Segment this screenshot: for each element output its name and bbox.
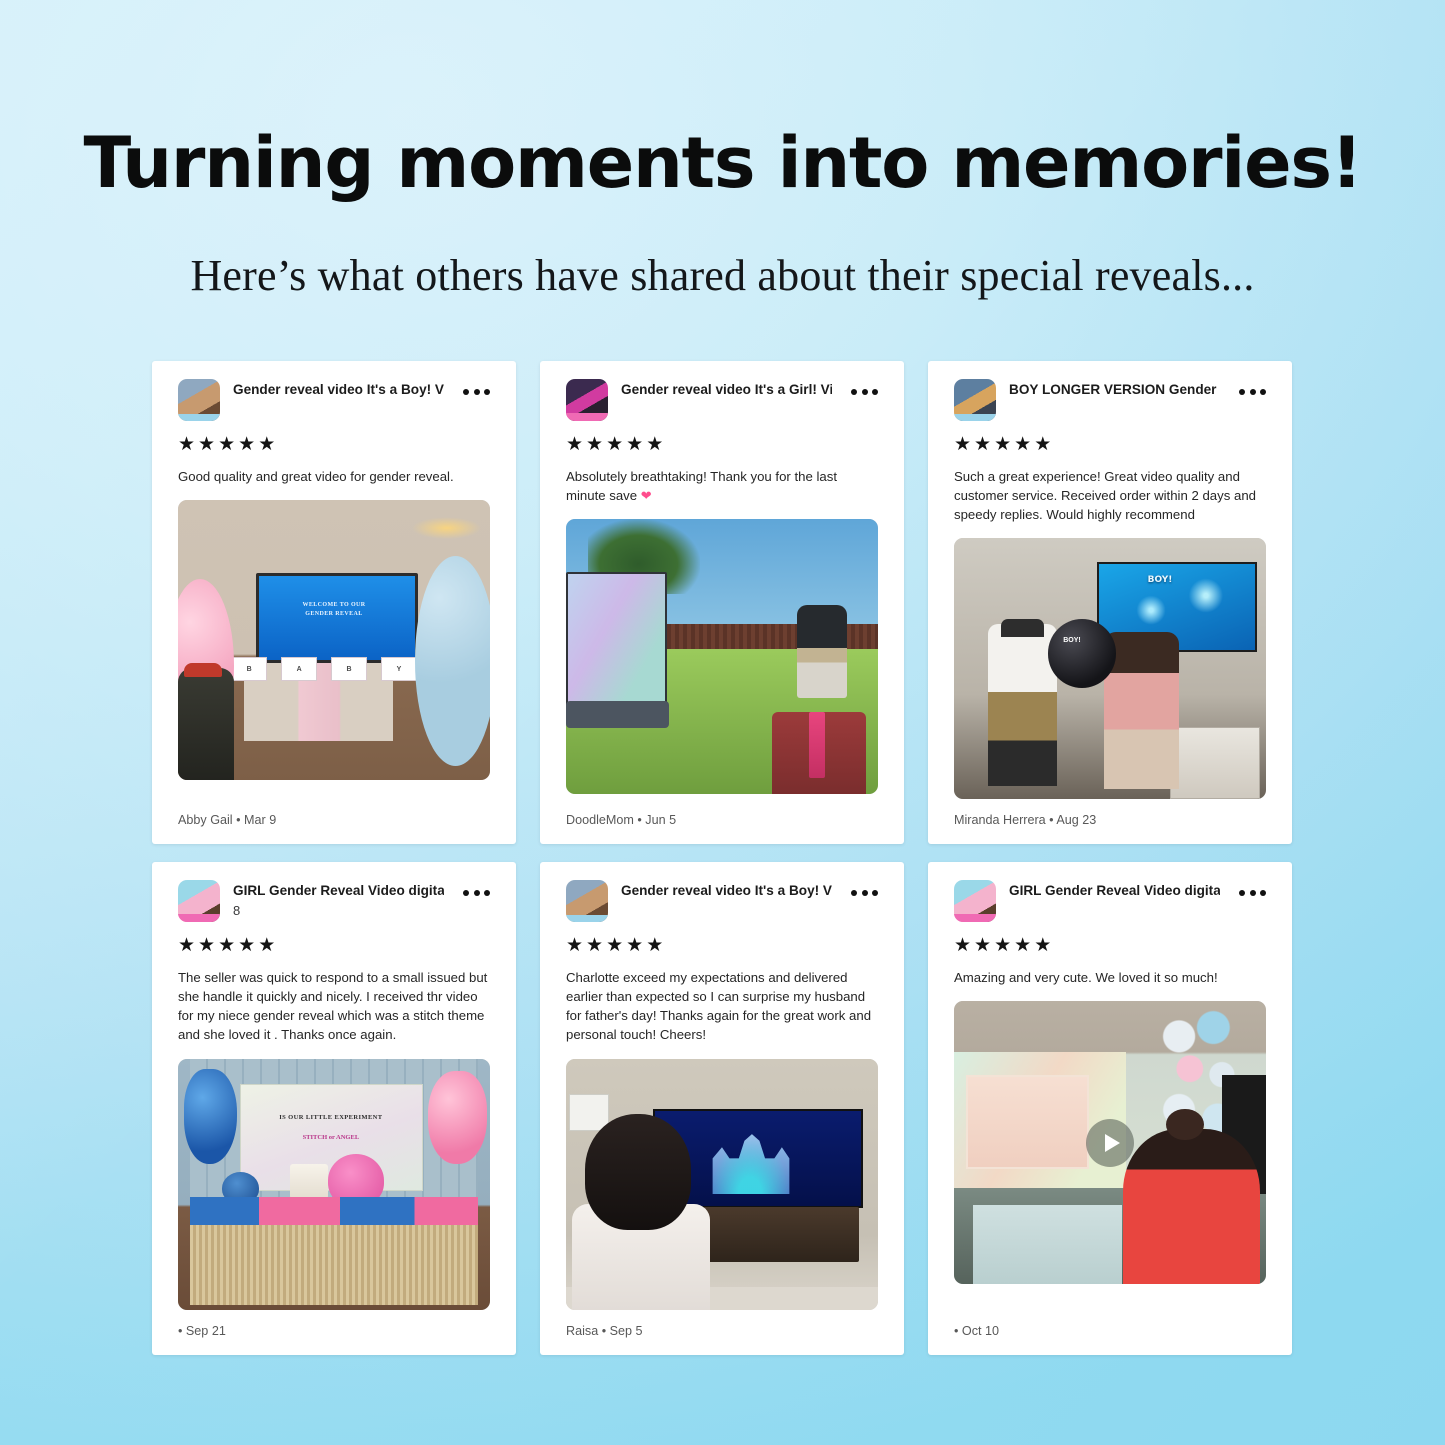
thumbnail-strip xyxy=(566,413,608,421)
review-text-body: Absolutely breathtaking! Thank you for t… xyxy=(566,469,837,503)
review-card[interactable]: BOY LONGER VERSION Gender ... ★ ★ ★ ★ ★ … xyxy=(928,361,1292,844)
tv-caption: BOY! xyxy=(1148,575,1173,585)
star-icon: ★ xyxy=(178,936,196,955)
review-text: The seller was quick to respond to a sma… xyxy=(178,968,490,1045)
review-card-header: Gender reveal video It's a Boy! Vide... xyxy=(178,379,490,421)
thumbnail-strip xyxy=(178,414,220,421)
star-icon: ★ xyxy=(1034,936,1052,955)
thumbnail-strip xyxy=(566,915,608,922)
photo-scene: WELCOME TO OUR GENDER REVEAL B A B Y xyxy=(178,500,490,780)
review-text: Charlotte exceed my expectations and del… xyxy=(566,968,878,1045)
star-rating: ★ ★ ★ ★ ★ xyxy=(566,936,878,955)
review-card[interactable]: Gender reveal video It's a Boy! Vide... … xyxy=(540,862,904,1355)
review-card-header: Gender reveal video It's a Boy! Vide... xyxy=(566,880,878,922)
heart-icon: ❤ xyxy=(641,488,652,503)
review-card-header: Gender reveal video It's a Girl! Vide... xyxy=(566,379,878,421)
review-photo[interactable]: IS OUR LITTLE EXPERIMENT STITCH or ANGEL xyxy=(178,1059,490,1310)
neon-sign xyxy=(412,517,481,539)
media-console xyxy=(703,1207,859,1262)
star-icon: ★ xyxy=(606,435,624,454)
star-icon: ★ xyxy=(566,936,584,955)
hair-bun xyxy=(1166,1109,1203,1140)
tv-caption: WELCOME TO OUR GENDER REVEAL xyxy=(272,601,397,619)
reviews-grid: Gender reveal video It's a Boy! Vide... … xyxy=(152,361,1293,1355)
product-thumbnail[interactable] xyxy=(178,880,220,922)
product-title-wrap: BOY LONGER VERSION Gender ... xyxy=(1009,379,1220,399)
product-title[interactable]: GIRL Gender Reveal Video digital ... xyxy=(1009,883,1220,900)
photo-scene xyxy=(566,1059,878,1310)
ellipsis-icon[interactable] xyxy=(463,379,490,395)
review-text: Absolutely breathtaking! Thank you for t… xyxy=(566,467,878,505)
product-title-wrap: GIRL Gender Reveal Video digital ... xyxy=(1009,880,1220,900)
star-icon: ★ xyxy=(606,936,624,955)
product-title[interactable]: Gender reveal video It's a Boy! Vide... xyxy=(233,382,444,399)
review-text: Good quality and great video for gender … xyxy=(178,467,490,486)
thumbnail-strip xyxy=(178,914,220,922)
ellipsis-icon[interactable] xyxy=(463,880,490,896)
product-thumbnail[interactable] xyxy=(954,379,996,421)
guest-silhouette xyxy=(178,668,234,780)
banner-line-2: STITCH or ANGEL xyxy=(272,1134,391,1141)
pink-balloon-garland xyxy=(428,1071,487,1164)
review-card[interactable]: GIRL Gender Reveal Video digital ... ★ ★… xyxy=(928,862,1292,1355)
review-byline: DoodleMom • Jun 5 xyxy=(566,799,878,844)
star-icon: ★ xyxy=(238,435,256,454)
balloon-caption: BOY! xyxy=(1063,637,1081,644)
review-card-header: GIRL Gender Reveal Video digital ... xyxy=(954,880,1266,922)
star-icon: ★ xyxy=(626,435,644,454)
thumbnail-strip xyxy=(954,414,996,421)
product-title-wrap: Gender reveal video It's a Boy! Vide... xyxy=(233,379,444,399)
wall-poster xyxy=(569,1094,608,1131)
reveal-balloon xyxy=(1048,619,1117,688)
play-icon[interactable] xyxy=(1086,1119,1134,1167)
review-byline: Abby Gail • Mar 9 xyxy=(178,799,490,844)
projector-screen xyxy=(566,572,667,708)
review-photo[interactable]: BOY! BOY! xyxy=(954,538,1266,799)
man-silhouette xyxy=(988,624,1057,786)
photo-scene: IS OUR LITTLE EXPERIMENT STITCH or ANGEL xyxy=(178,1059,490,1310)
product-title[interactable]: BOY LONGER VERSION Gender ... xyxy=(1009,382,1220,399)
product-title-wrap: GIRL Gender Reveal Video digital ... 8 xyxy=(233,880,444,920)
page-title: Turning moments into memories! xyxy=(0,128,1445,198)
review-photo[interactable] xyxy=(566,1059,878,1310)
media-shelf xyxy=(1170,727,1259,799)
star-icon: ★ xyxy=(218,435,236,454)
ellipsis-icon[interactable] xyxy=(851,379,878,395)
product-title-wrap: Gender reveal video It's a Girl! Vide... xyxy=(621,379,832,399)
review-photo[interactable]: WELCOME TO OUR GENDER REVEAL B A B Y xyxy=(178,500,490,780)
star-icon: ★ xyxy=(626,936,644,955)
star-rating: ★ ★ ★ ★ ★ xyxy=(178,435,490,454)
photo-scene xyxy=(566,519,878,794)
ellipsis-icon[interactable] xyxy=(851,880,878,896)
product-title[interactable]: GIRL Gender Reveal Video digital ... xyxy=(233,883,444,900)
cake xyxy=(290,1164,327,1199)
star-icon: ★ xyxy=(566,435,584,454)
star-icon: ★ xyxy=(258,936,276,955)
balloon-column-right xyxy=(415,556,490,766)
review-card-header: BOY LONGER VERSION Gender ... xyxy=(954,379,1266,421)
ellipsis-icon[interactable] xyxy=(1239,880,1266,896)
star-icon: ★ xyxy=(586,435,604,454)
star-icon: ★ xyxy=(994,435,1012,454)
star-icon: ★ xyxy=(1034,435,1052,454)
ellipsis-icon[interactable] xyxy=(1239,379,1266,395)
table-edge xyxy=(190,1197,477,1227)
star-icon: ★ xyxy=(198,936,216,955)
thumbnail-strip xyxy=(954,914,996,922)
star-icon: ★ xyxy=(994,936,1012,955)
star-icon: ★ xyxy=(974,435,992,454)
photo-scene: BOY! BOY! xyxy=(954,538,1266,799)
product-title[interactable]: Gender reveal video It's a Girl! Vide... xyxy=(621,382,832,399)
product-subtitle: 8 xyxy=(233,901,444,921)
hat xyxy=(184,663,221,677)
product-title-wrap: Gender reveal video It's a Boy! Vide... xyxy=(621,880,832,900)
review-card[interactable]: Gender reveal video It's a Girl! Vide...… xyxy=(540,361,904,844)
review-byline: Raisa • Sep 5 xyxy=(566,1310,878,1355)
cup xyxy=(809,712,825,778)
star-icon: ★ xyxy=(1014,435,1032,454)
star-rating: ★ ★ ★ ★ ★ xyxy=(954,936,1266,955)
star-icon: ★ xyxy=(954,435,972,454)
review-byline: • Sep 21 xyxy=(178,1310,490,1355)
star-icon: ★ xyxy=(974,936,992,955)
backdrop-frame xyxy=(966,1075,1089,1170)
product-thumbnail[interactable] xyxy=(566,379,608,421)
table-cloth xyxy=(973,1205,1123,1284)
product-thumbnail[interactable] xyxy=(178,379,220,421)
review-text: Such a great experience! Great video qua… xyxy=(954,467,1266,524)
child-head xyxy=(585,1114,691,1230)
page-header: Turning moments into memories! Here’s wh… xyxy=(0,128,1445,298)
star-icon: ★ xyxy=(178,435,196,454)
star-rating: ★ ★ ★ ★ ★ xyxy=(954,435,1266,454)
letter-block: Y xyxy=(381,657,417,681)
letter-block: B xyxy=(231,657,267,681)
banner-line-1: IS OUR LITTLE EXPERIMENT xyxy=(272,1114,391,1121)
star-icon: ★ xyxy=(198,435,216,454)
cap xyxy=(1001,619,1045,637)
product-thumbnail[interactable] xyxy=(566,880,608,922)
product-thumbnail[interactable] xyxy=(954,880,996,922)
star-icon: ★ xyxy=(218,936,236,955)
product-title[interactable]: Gender reveal video It's a Boy! Vide... xyxy=(621,883,832,900)
review-card[interactable]: GIRL Gender Reveal Video digital ... 8 ★… xyxy=(152,862,516,1355)
star-icon: ★ xyxy=(646,435,664,454)
blue-balloon-garland xyxy=(184,1069,237,1165)
star-icon: ★ xyxy=(1014,936,1032,955)
review-card-header: GIRL Gender Reveal Video digital ... 8 xyxy=(178,880,490,922)
couple xyxy=(797,605,847,699)
star-icon: ★ xyxy=(258,435,276,454)
woman-red-shirt xyxy=(1123,1129,1260,1285)
screen-base xyxy=(566,701,669,729)
review-card[interactable]: Gender reveal video It's a Boy! Vide... … xyxy=(152,361,516,844)
review-video[interactable] xyxy=(954,1001,1266,1284)
star-icon: ★ xyxy=(954,936,972,955)
star-icon: ★ xyxy=(238,936,256,955)
star-icon: ★ xyxy=(646,936,664,955)
star-rating: ★ ★ ★ ★ ★ xyxy=(178,936,490,955)
review-text: Amazing and very cute. We loved it so mu… xyxy=(954,968,1266,987)
grass-skirt xyxy=(190,1225,477,1305)
review-byline: Miranda Herrera • Aug 23 xyxy=(954,799,1266,844)
page-subtitle: Here’s what others have shared about the… xyxy=(0,254,1445,298)
star-rating: ★ ★ ★ ★ ★ xyxy=(566,435,878,454)
review-photo[interactable] xyxy=(566,519,878,794)
letter-block: B xyxy=(331,657,367,681)
review-byline: • Oct 10 xyxy=(954,1310,1266,1355)
star-icon: ★ xyxy=(586,936,604,955)
testimonial-page: Turning moments into memories! Here’s wh… xyxy=(0,0,1445,1445)
letter-block: A xyxy=(281,657,317,681)
